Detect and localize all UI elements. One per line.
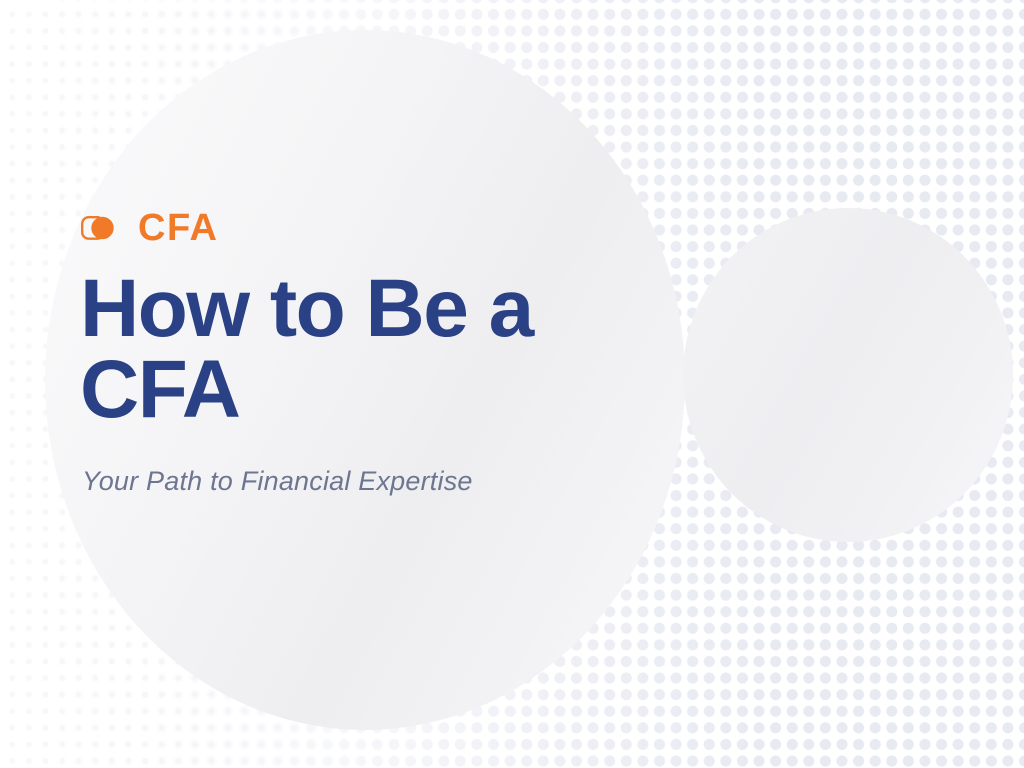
page-title: How to Be a CFA [80,268,680,430]
cfa-circle-logo-icon [80,208,120,248]
small-gray-circle [683,208,1013,542]
title-slide: CFA How to Be a CFA Your Path to Financi… [0,0,1024,768]
page-title-line-2: CFA [80,349,680,430]
brand-lockup: CFA [80,208,219,248]
page-subtitle: Your Path to Financial Expertise [82,466,473,497]
page-title-line-1: How to Be a [80,268,680,349]
slide-content: CFA How to Be a CFA Your Path to Financi… [80,0,700,768]
brand-name: CFA [138,209,219,247]
